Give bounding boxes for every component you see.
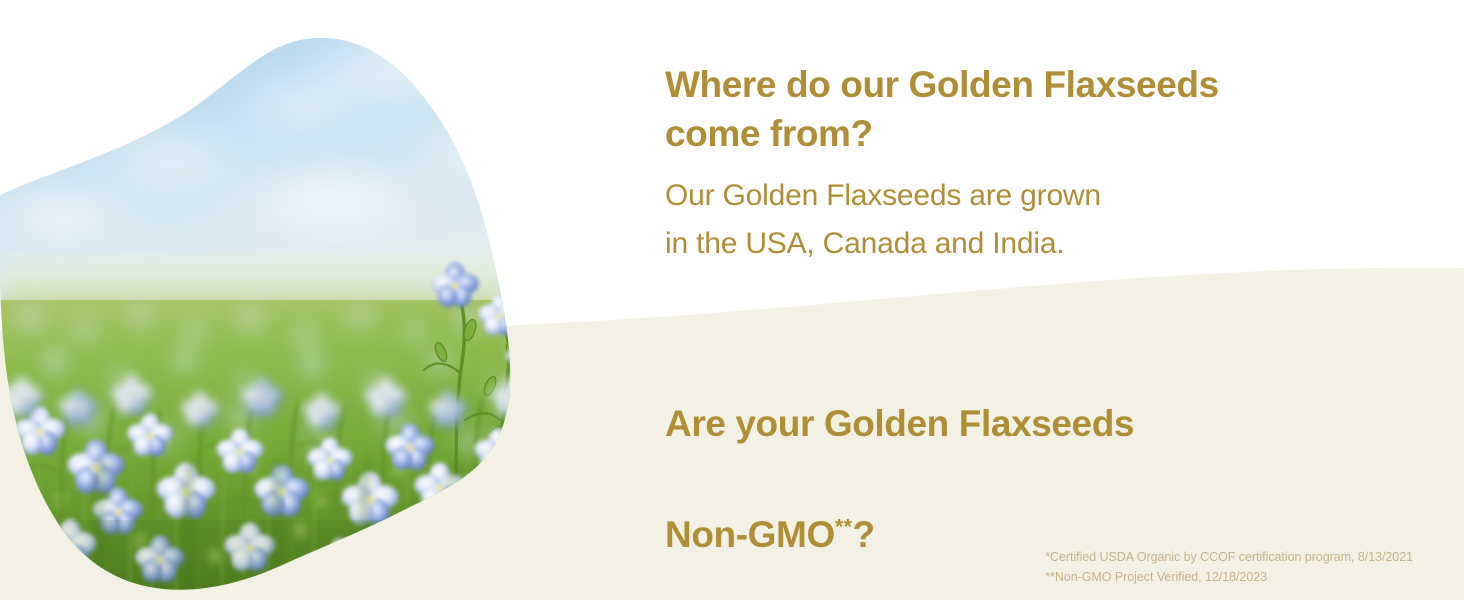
content-column: Where do our Golden Flaxseeds come from?… bbox=[665, 0, 1425, 600]
flax-field-photo bbox=[0, 0, 660, 600]
footnotes: *Certified USDA Organic by CCOF certific… bbox=[1045, 547, 1413, 588]
footnote-usda-organic: *Certified USDA Organic by CCOF certific… bbox=[1045, 547, 1413, 568]
qa-block-origin: Where do our Golden Flaxseeds come from?… bbox=[665, 60, 1405, 268]
question-line-1: Are your Golden Flaxseeds bbox=[665, 403, 1134, 444]
answer-text-origin: Our Golden Flaxseeds are grown in the US… bbox=[665, 172, 1405, 268]
double-asterisk-marker: ** bbox=[835, 514, 853, 538]
question-line-2: Non-GMO bbox=[665, 514, 835, 555]
question-heading-non-gmo: Are your Golden Flaxseeds Non-GMO**? bbox=[665, 340, 1405, 562]
promo-banner: Where do our Golden Flaxseeds come from?… bbox=[0, 0, 1464, 600]
footnote-non-gmo-verified: **Non-GMO Project Verified, 12/18/2023 bbox=[1045, 567, 1413, 588]
question-heading-origin: Where do our Golden Flaxseeds come from? bbox=[665, 60, 1405, 158]
question-mark: ? bbox=[853, 514, 875, 555]
